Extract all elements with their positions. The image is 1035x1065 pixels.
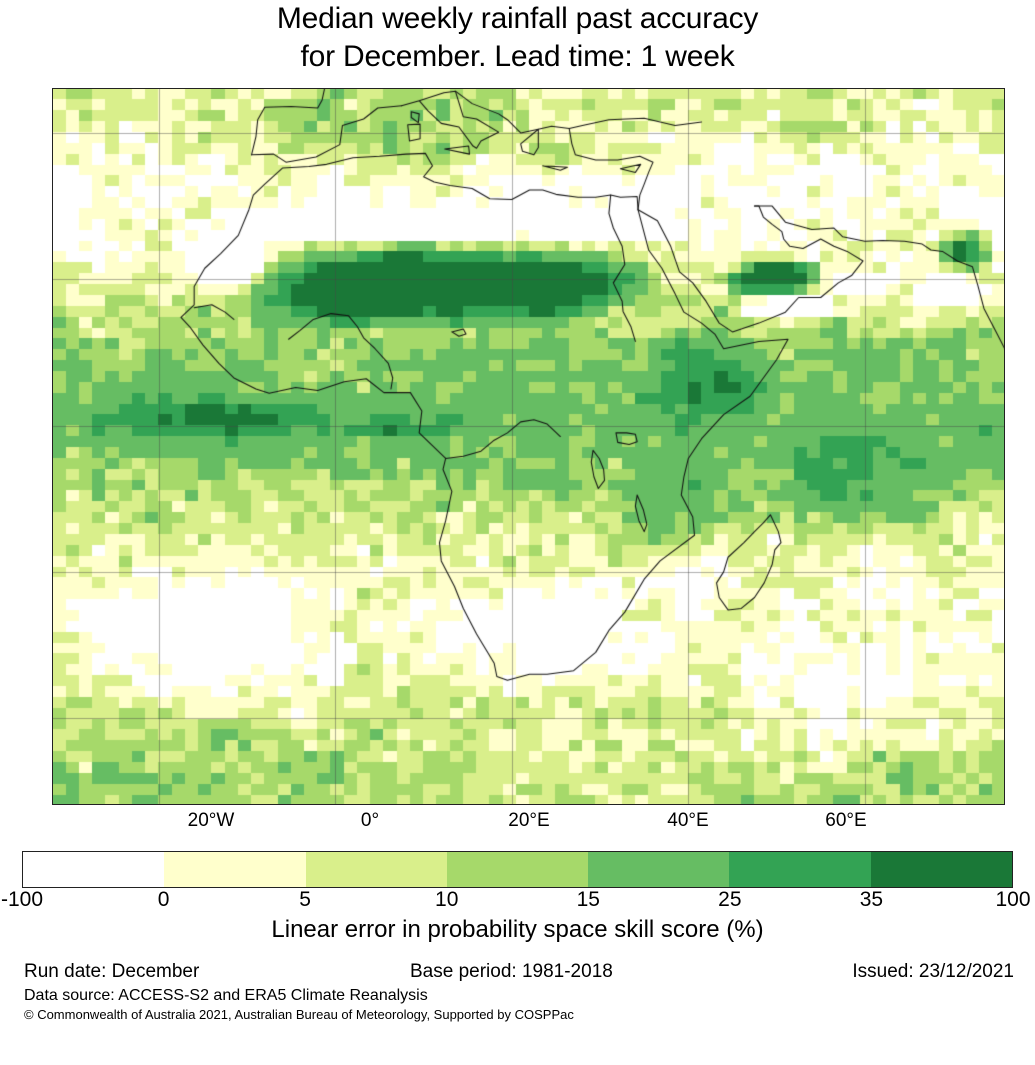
colorbar-segment-10-to-15 bbox=[447, 852, 588, 887]
colorbar-tick-25: 25 bbox=[718, 888, 741, 912]
colorbar-tick--100: -100 bbox=[1, 888, 43, 912]
footer-copyright: © Commonwealth of Australia 2021, Austra… bbox=[24, 1007, 574, 1022]
xtick-label-40e: 40°E bbox=[667, 810, 708, 832]
colorbar-segment-15-to-25 bbox=[588, 852, 729, 887]
colorbar-tick-35: 35 bbox=[860, 888, 883, 912]
colorbar-segment-35-to-100 bbox=[871, 852, 1012, 887]
xtick-label-60e: 60°E bbox=[825, 810, 866, 832]
xtick-label-20w: 20°W bbox=[188, 810, 235, 832]
coastline-and-gridline-overlay bbox=[53, 89, 1005, 805]
colorbar-tick-10: 10 bbox=[435, 888, 458, 912]
footer-base-period: Base period: 1981-2018 bbox=[410, 961, 613, 983]
xtick-label-20e: 20°E bbox=[508, 810, 549, 832]
colorbar-axis-label: Linear error in probability space skill … bbox=[0, 916, 1035, 944]
colorbar-tick-100: 100 bbox=[995, 888, 1030, 912]
colorbar-tick-0: 0 bbox=[158, 888, 170, 912]
chart-title: Median weekly rainfall past accuracy for… bbox=[0, 0, 1035, 76]
colorbar bbox=[22, 851, 1013, 888]
colorbar-tick-15: 15 bbox=[577, 888, 600, 912]
colorbar-segment-25-to-35 bbox=[729, 852, 870, 887]
chart-title-line-1: Median weekly rainfall past accuracy bbox=[0, 0, 1035, 38]
footer-issued: Issued: 23/12/2021 bbox=[852, 961, 1014, 983]
chart-title-line-2: for December. Lead time: 1 week bbox=[0, 38, 1035, 76]
map-plot-area bbox=[52, 88, 1005, 805]
colorbar-segment-0-to-5 bbox=[164, 852, 305, 887]
footer-run-date: Run date: December bbox=[24, 961, 199, 983]
colorbar-tick-5: 5 bbox=[299, 888, 311, 912]
xtick-label-0: 0° bbox=[361, 810, 379, 832]
colorbar-segment-5-to-10 bbox=[306, 852, 447, 887]
footer-data-source: Data source: ACCESS-S2 and ERA5 Climate … bbox=[24, 987, 428, 1005]
colorbar-segment--100-to-0 bbox=[23, 852, 164, 887]
